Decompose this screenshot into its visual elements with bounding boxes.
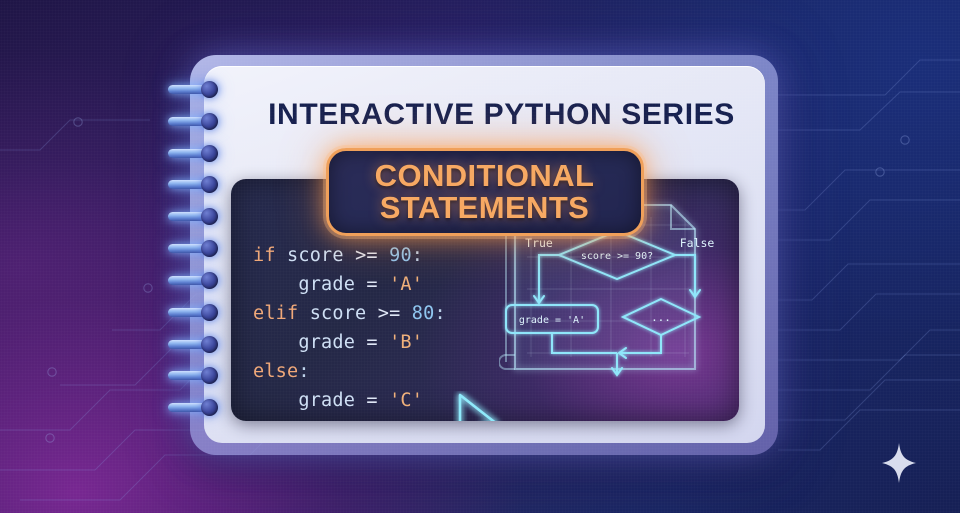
topic-badge: CONDITIONAL STATEMENTS bbox=[326, 148, 644, 236]
badge-line-1: CONDITIONAL bbox=[375, 160, 595, 192]
poster-canvas: INTERACTIVE PYTHON SERIES if score >= 90… bbox=[0, 0, 960, 513]
code-line: elif score >= 80: bbox=[253, 299, 446, 328]
flow-decision-label: score >= 90? bbox=[581, 251, 653, 262]
binding-ring bbox=[168, 399, 230, 416]
ring-head bbox=[201, 145, 218, 162]
badge-line-2: STATEMENTS bbox=[380, 192, 590, 224]
code-line: grade = 'A' bbox=[253, 270, 446, 299]
code-line: grade = 'B' bbox=[253, 328, 446, 357]
flow-false-label: False bbox=[680, 236, 715, 250]
flow-assign-label: grade = 'A' bbox=[519, 315, 585, 326]
ring-head bbox=[201, 176, 218, 193]
notebook-page: INTERACTIVE PYTHON SERIES if score >= 90… bbox=[204, 66, 765, 443]
ring-head bbox=[201, 336, 218, 353]
binding-ring bbox=[168, 208, 230, 225]
flow-true-label: True bbox=[525, 236, 553, 250]
binding-ring bbox=[168, 113, 230, 130]
binding-ring bbox=[168, 336, 230, 353]
ring-head bbox=[201, 304, 218, 321]
code-line: if score >= 90: bbox=[253, 241, 446, 270]
python-code-block: if score >= 90: grade = 'A'elif score >=… bbox=[253, 241, 446, 415]
ring-head bbox=[201, 113, 218, 130]
mouse-pointer-icon bbox=[453, 391, 513, 421]
binding-ring bbox=[168, 367, 230, 384]
notebook-card: INTERACTIVE PYTHON SERIES if score >= 90… bbox=[190, 55, 778, 455]
code-line: else: bbox=[253, 357, 446, 386]
binding-ring bbox=[168, 304, 230, 321]
page-title: INTERACTIVE PYTHON SERIES bbox=[204, 98, 765, 132]
code-line: grade = 'C' bbox=[253, 386, 446, 415]
ring-head bbox=[201, 367, 218, 384]
ring-head bbox=[201, 81, 218, 98]
ring-head bbox=[201, 399, 218, 416]
sparkle-icon bbox=[882, 443, 916, 483]
ring-head bbox=[201, 208, 218, 225]
spiral-binding bbox=[168, 81, 230, 431]
ring-head bbox=[201, 272, 218, 289]
ring-head bbox=[201, 240, 218, 257]
flow-ellipsis-label: ... bbox=[651, 311, 671, 324]
binding-ring bbox=[168, 240, 230, 257]
binding-ring bbox=[168, 176, 230, 193]
binding-ring bbox=[168, 272, 230, 289]
binding-ring bbox=[168, 81, 230, 98]
binding-ring bbox=[168, 145, 230, 162]
